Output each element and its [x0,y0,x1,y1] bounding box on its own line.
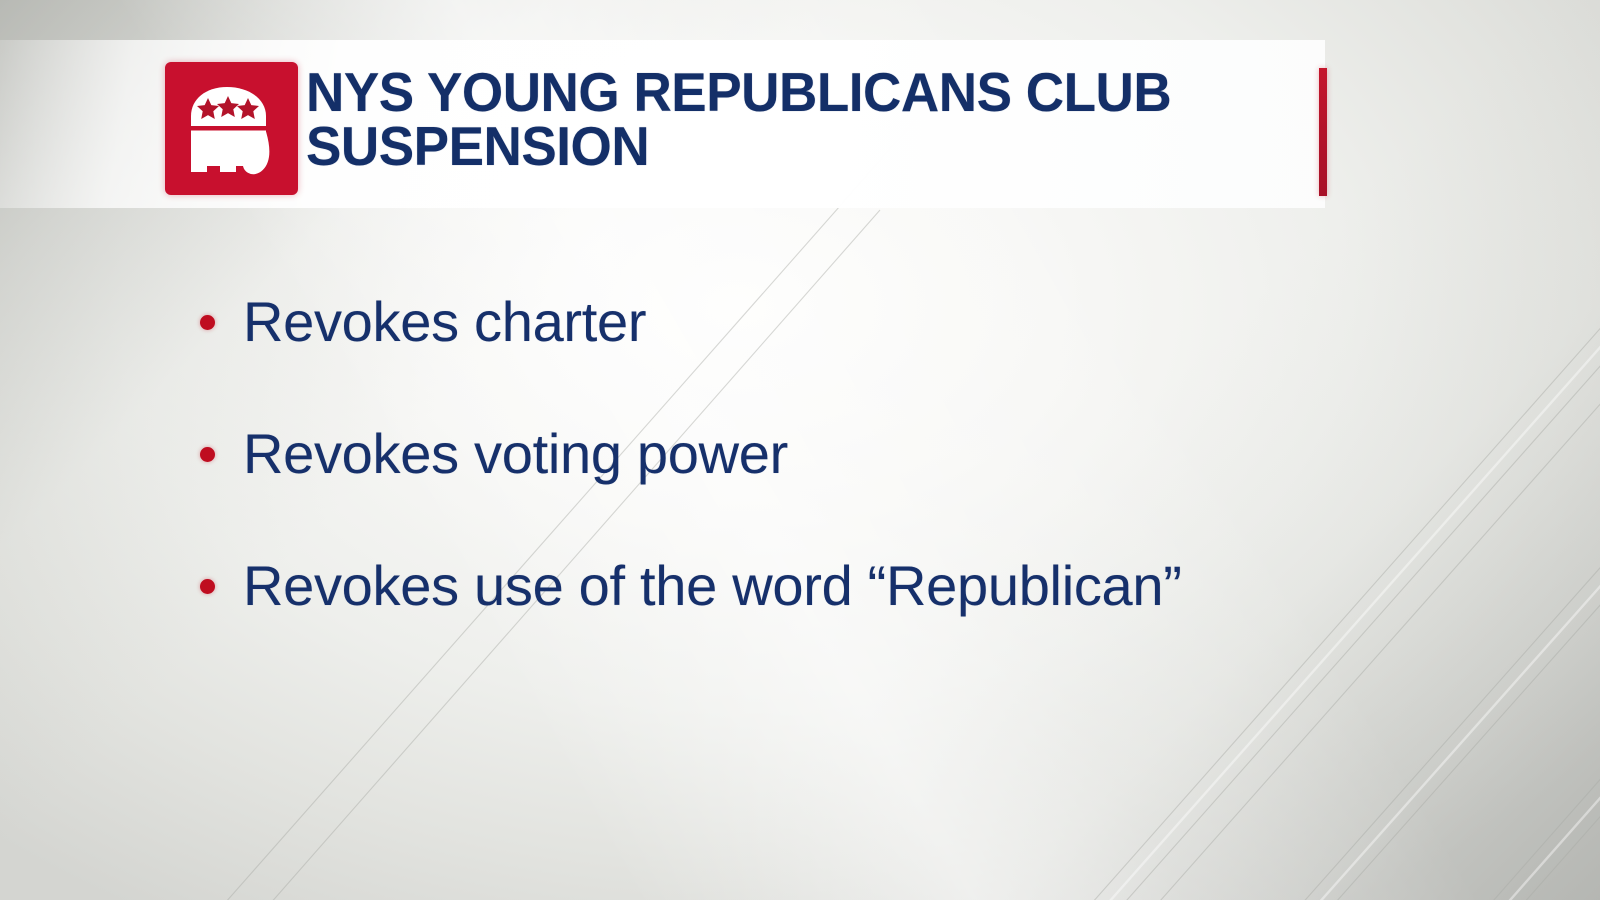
bullet-text: Revokes voting power [243,425,788,484]
bullet-dot-icon [200,579,215,594]
list-item: Revokes use of the word “Republican” [200,544,1530,628]
headline-line-2: SUSPENSION [306,120,1271,174]
bullet-dot-icon [200,315,215,330]
red-accent-rule [1319,68,1327,196]
list-item: Revokes voting power [200,412,1530,496]
bullet-list: Revokes charter Revokes voting power Rev… [200,280,1530,676]
list-item: Revokes charter [200,280,1530,364]
headline-line-1: NYS YOUNG REPUBLICANS CLUB [306,66,1271,120]
bullet-dot-icon [200,447,215,462]
bullet-text: Revokes use of the word “Republican” [243,557,1182,616]
broadcast-lower-third-graphic: NYS YOUNG REPUBLICANS CLUB SUSPENSION Re… [0,0,1600,900]
page-title: NYS YOUNG REPUBLICANS CLUB SUSPENSION [306,66,1271,174]
bullet-text: Revokes charter [243,293,646,352]
republican-elephant-icon [165,62,298,195]
